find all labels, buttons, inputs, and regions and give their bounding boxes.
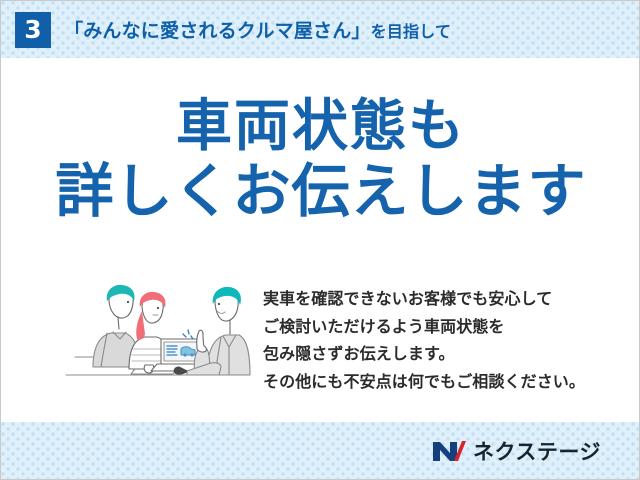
body-copy: 実車を確認できないお客様でも安心して ご検討いただけるよう車両状態を 包み隠さず…: [263, 286, 613, 396]
step-number-badge: 3: [15, 12, 51, 48]
body-copy-line-4: その他にも不安点は何でもご相談ください。: [263, 369, 613, 397]
body-copy-line-1: 実車を確認できないお客様でも安心して: [263, 286, 613, 314]
header-title: 「みんなに愛されるクルマ屋さん」を目指して: [64, 16, 451, 43]
page-title: 車両状態も 詳しくお伝えします: [1, 97, 640, 221]
consultation-illustration: [63, 279, 253, 391]
header-title-suffix: を目指して: [371, 24, 452, 41]
nexstage-n-logo-icon: [432, 439, 466, 463]
header-title-quoted: 「みんなに愛されるクルマ屋さん」: [64, 21, 371, 42]
brand-logo: ネクステージ: [1, 422, 640, 480]
body-copy-line-3: 包み隠さずお伝えします。: [263, 341, 613, 369]
brand-name: ネクステージ: [473, 436, 601, 466]
header: 3 「みんなに愛されるクルマ屋さん」を目指して: [1, 1, 640, 58]
promo-banner: 3 「みんなに愛されるクルマ屋さん」を目指して 車両状態も 詳しくお伝えします: [0, 0, 640, 480]
body-copy-line-2: ご検討いただけるよう車両状態を: [263, 314, 613, 342]
headline-line-2: 詳しくお伝えします: [1, 162, 640, 221]
headline-line-1: 車両状態も: [1, 97, 640, 154]
consultation-illustration-svg: [63, 279, 253, 391]
